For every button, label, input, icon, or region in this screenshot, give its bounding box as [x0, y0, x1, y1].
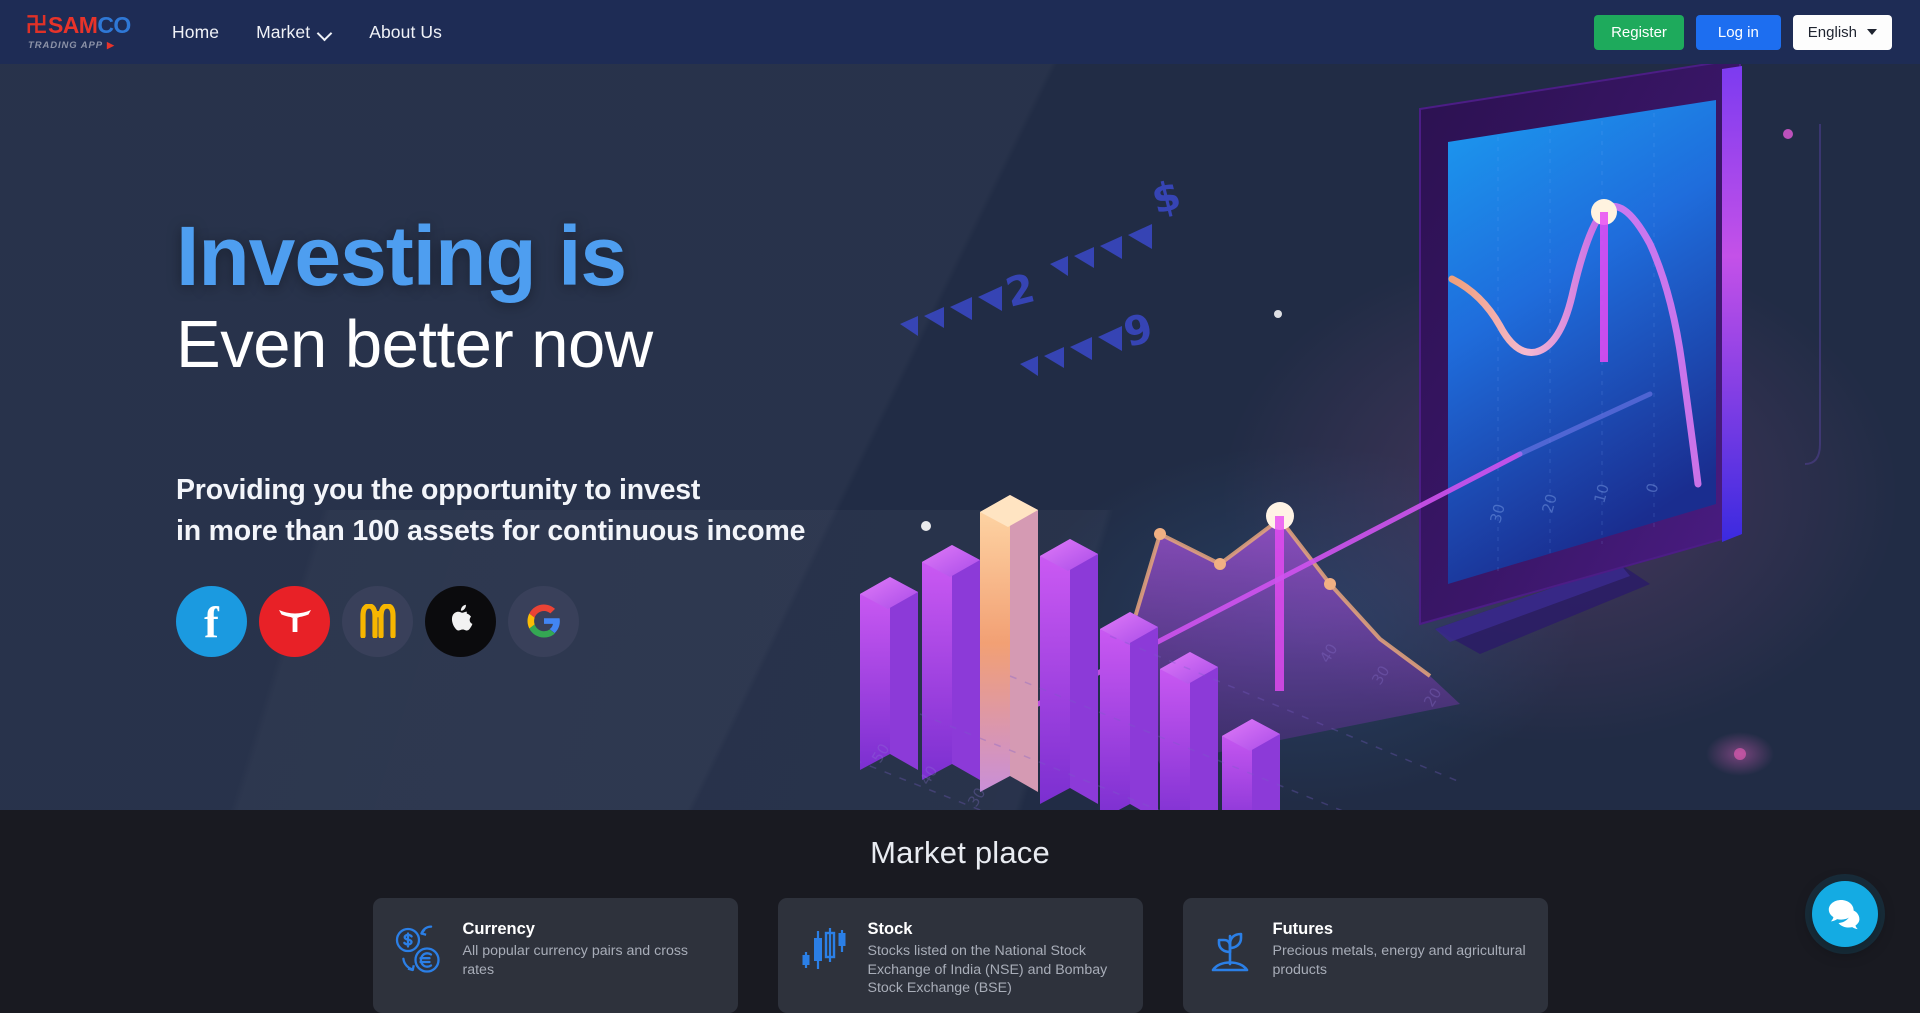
facebook-logo-icon[interactable]: f	[176, 586, 247, 657]
apple-logo-icon[interactable]	[425, 586, 496, 657]
hero-subtitle: Providing you the opportunity to invest …	[176, 470, 966, 552]
play-triangle-icon: ▶	[107, 40, 115, 51]
currency-exchange-icon	[391, 922, 449, 980]
nav-item-about-us[interactable]: About Us	[367, 16, 444, 49]
market-cards: Currency All popular currency pairs and …	[0, 898, 1920, 1013]
mcdonalds-logo-icon[interactable]	[342, 586, 413, 657]
market-place-section: Market place Currency All popular curren…	[0, 810, 1920, 993]
market-place-title: Market place	[0, 810, 1920, 871]
market-card-currency-title: Currency	[463, 920, 722, 939]
market-card-currency[interactable]: Currency All popular currency pairs and …	[373, 898, 738, 1013]
market-card-currency-body: Currency All popular currency pairs and …	[463, 916, 722, 979]
google-logo-icon[interactable]	[508, 586, 579, 657]
sprout-icon	[1201, 922, 1259, 980]
caret-down-icon	[1867, 29, 1877, 35]
market-card-stock-desc: Stocks listed on the National Stock Exch…	[868, 942, 1127, 998]
register-button[interactable]: Register	[1594, 15, 1684, 50]
nav-item-market[interactable]: Market	[254, 16, 334, 49]
market-card-futures-body: Futures Precious metals, energy and agri…	[1273, 916, 1532, 979]
svg-text:9: 9	[1119, 305, 1157, 356]
market-card-stock[interactable]: Stock Stocks listed on the National Stoc…	[778, 898, 1143, 1013]
nav-actions: Register Log in English	[1594, 15, 1892, 50]
nav-item-home[interactable]: Home	[170, 16, 221, 49]
market-card-stock-title: Stock	[868, 920, 1127, 939]
google-g-glyph	[526, 603, 562, 639]
hero-headline-secondary: Even better now	[176, 304, 1036, 386]
login-button[interactable]: Log in	[1696, 15, 1781, 50]
tesla-glyph	[277, 608, 313, 634]
svg-text:$: $	[1147, 172, 1185, 223]
hero-headline-primary: Investing is	[176, 214, 1036, 298]
nav-item-home-label: Home	[172, 22, 219, 43]
chat-bubble-icon	[1827, 898, 1863, 930]
logo-text-co: CO	[97, 14, 130, 37]
market-card-futures[interactable]: Futures Precious metals, energy and agri…	[1183, 898, 1548, 1013]
mcdonalds-arches-glyph	[358, 604, 398, 638]
candlestick-chart-icon	[796, 922, 854, 980]
logo-wordmark: 卍 SAM CO	[26, 14, 134, 38]
chat-widget-button[interactable]	[1812, 881, 1878, 947]
logo-tagline: TRADING APP ▶	[28, 40, 134, 51]
hero-copy: Investing is Even better now Providing y…	[176, 214, 1036, 657]
market-card-stock-body: Stock Stocks listed on the National Stoc…	[868, 916, 1127, 998]
samco-symbol-icon: 卍	[25, 15, 47, 36]
market-card-futures-title: Futures	[1273, 920, 1532, 939]
language-selector-label: English	[1808, 25, 1857, 40]
nav-item-market-label: Market	[256, 22, 310, 43]
brand-logo-row: f	[176, 586, 1036, 657]
hero-subtitle-line1: Providing you the opportunity to invest	[176, 470, 966, 511]
hero-section: 2 9 $	[0, 64, 1920, 810]
language-selector[interactable]: English	[1793, 15, 1892, 50]
market-card-currency-desc: All popular currency pairs and cross rat…	[463, 942, 722, 979]
top-navbar: 卍 SAM CO TRADING APP ▶ Home Market About…	[0, 0, 1920, 64]
logo-tagline-text: TRADING APP	[28, 40, 103, 51]
primary-nav: Home Market About Us	[170, 16, 444, 49]
hero-subtitle-line2: in more than 100 assets for continuous i…	[176, 511, 966, 552]
logo-text-sam: SAM	[48, 14, 97, 37]
tesla-logo-icon[interactable]	[259, 586, 330, 657]
chevron-down-icon	[319, 28, 332, 36]
samco-logo[interactable]: 卍 SAM CO TRADING APP ▶	[26, 10, 134, 54]
nav-item-about-us-label: About Us	[369, 22, 442, 43]
market-card-futures-desc: Precious metals, energy and agricultural…	[1273, 942, 1532, 979]
apple-glyph	[445, 602, 477, 640]
